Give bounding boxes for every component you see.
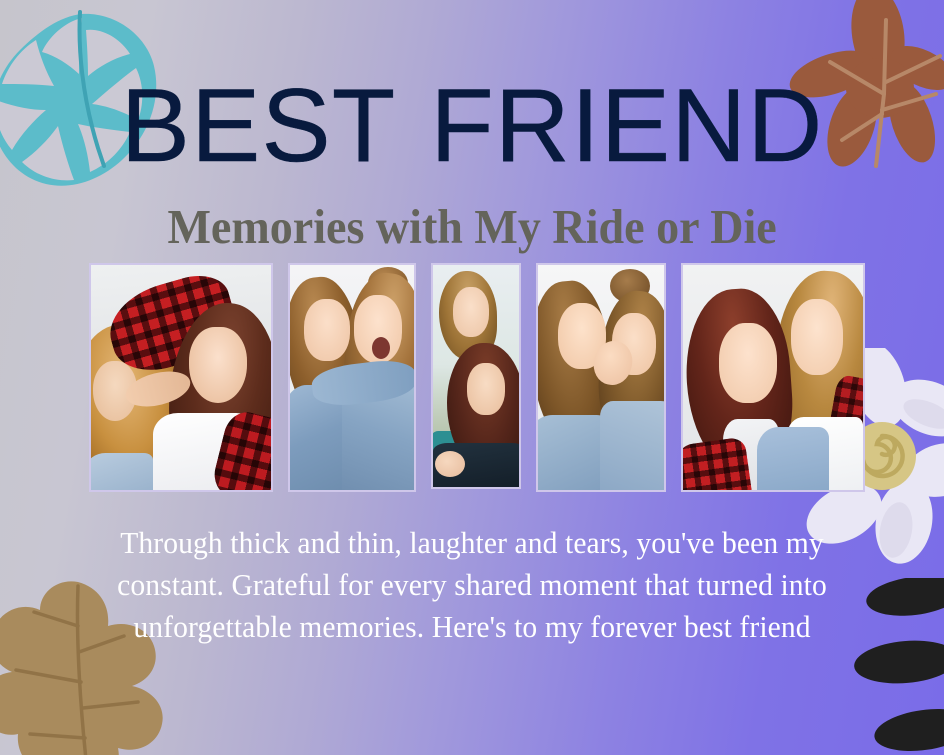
photo-face-top [453,287,489,337]
title-word-friend: FRIEND [430,68,823,184]
message-text: Through thick and thin, laughter and tea… [60,522,884,648]
photo-hand [435,451,465,477]
page-title: BESTFRIEND [0,74,944,178]
gallery-photo[interactable] [681,263,865,492]
message-line-2: constant. Grateful for every shared mome… [72,564,871,606]
photo-face-bottom [467,363,505,415]
photo-denim-right [600,401,666,492]
title-word-best: BEST [121,68,397,184]
photo-jeans [89,453,153,492]
title-block: BESTFRIEND [0,74,944,178]
photo-gallery [89,263,855,493]
gallery-photo[interactable] [288,263,416,492]
photo-denim-left [536,415,610,492]
message-line-1: Through thick and thin, laughter and tea… [72,522,871,564]
photo-face-left [304,299,350,361]
photo-face-right [189,327,247,403]
poster-canvas: BESTFRIEND Memories with My Ride or Die [0,0,944,755]
photo-face-left [719,323,777,403]
gallery-photo[interactable] [536,263,666,492]
photo-denim-shirt [757,427,829,492]
gallery-photo[interactable] [89,263,273,492]
subtitle-block: Memories with My Ride or Die [0,198,944,256]
photo-face-right [791,299,843,375]
photo-plaid-sleeve [681,436,753,492]
message-line-3: unforgettable memories. Here's to my for… [72,606,871,648]
gallery-photo[interactable] [431,263,521,489]
photo-open-mouth [372,337,390,359]
page-subtitle: Memories with My Ride or Die [167,198,776,256]
